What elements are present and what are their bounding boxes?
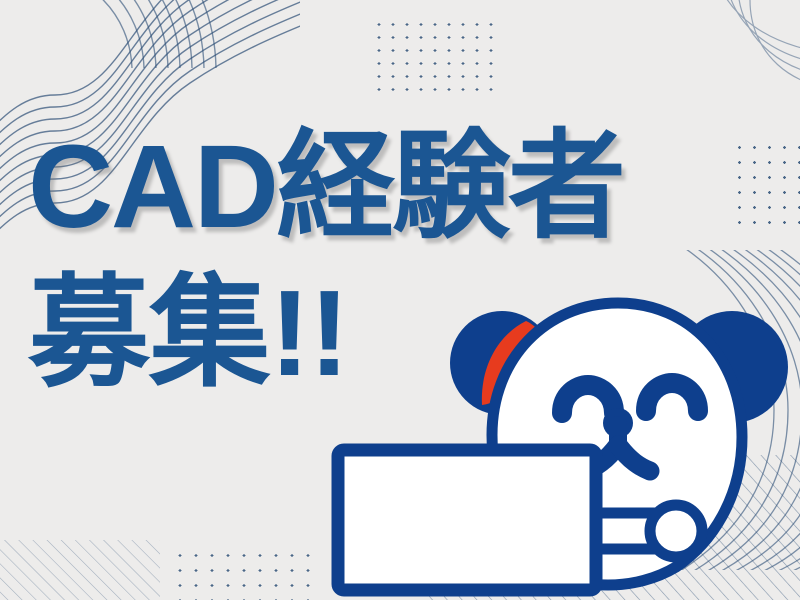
dot-grid-bottom-left (172, 548, 318, 600)
headline-line-1-text: CAD経験者 (28, 121, 624, 253)
dot-grid-top-center (372, 18, 498, 92)
diagonal-lines-bottom-left-icon (0, 540, 160, 600)
headline-line-2-text: 募集!! (28, 265, 348, 401)
arc-lines-top-right-icon (700, 0, 800, 110)
recruitment-poster: CAD経験者 募集!! (0, 0, 800, 600)
headline-line-1: CAD経験者 (28, 128, 624, 246)
dot-grid-right (732, 140, 800, 228)
headline-line-2: 募集!! (28, 272, 348, 394)
laptop-screen-icon (330, 440, 680, 600)
